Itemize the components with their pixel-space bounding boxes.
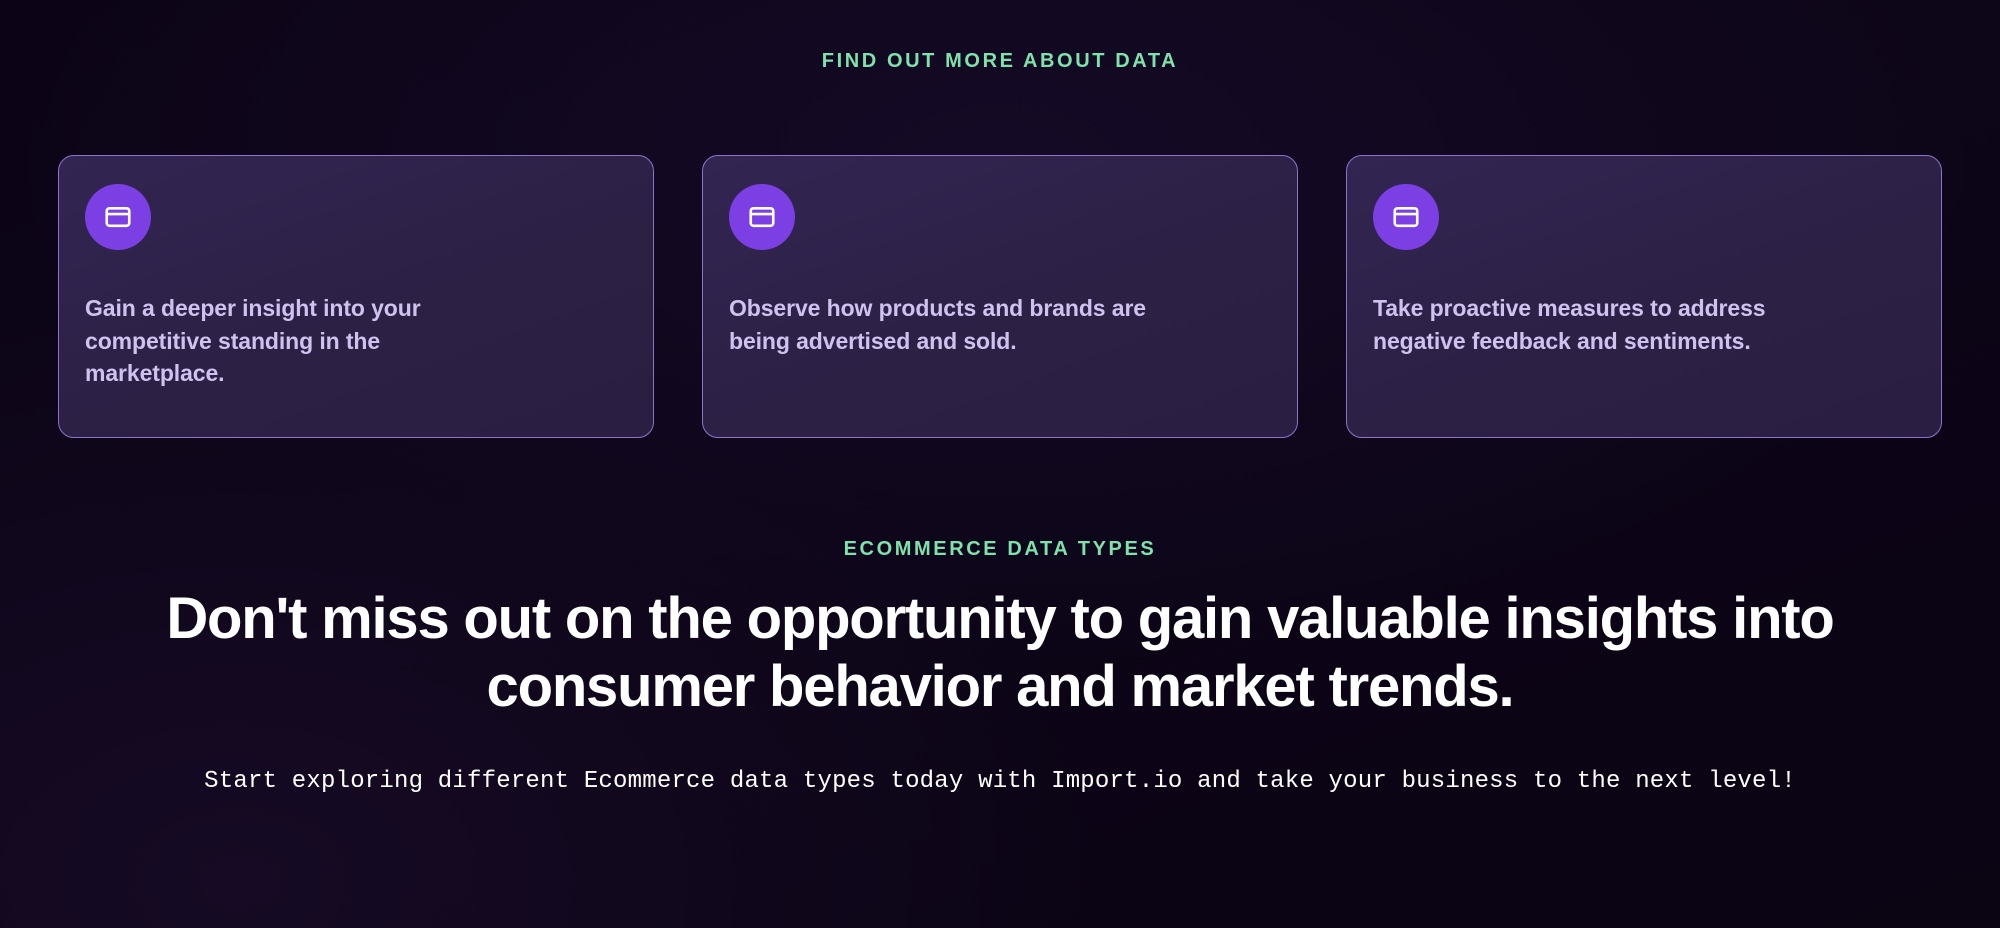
page-title: Don't miss out on the opportunity to gai…: [90, 585, 1910, 721]
feature-card-text: Take proactive measures to address negat…: [1373, 292, 1803, 357]
section-kicker-find-out-more: FIND OUT MORE ABOUT DATA: [58, 0, 1942, 73]
browser-window-icon: [85, 184, 151, 250]
browser-window-icon: [729, 184, 795, 250]
page-root: FIND OUT MORE ABOUT DATA Gain a deeper i…: [0, 0, 2000, 928]
browser-window-icon: [1373, 184, 1439, 250]
section-kicker-ecommerce-data-types: ECOMMERCE DATA TYPES: [58, 538, 1942, 561]
feature-card-1[interactable]: Gain a deeper insight into your competit…: [58, 155, 654, 438]
feature-card-3[interactable]: Take proactive measures to address negat…: [1346, 155, 1942, 438]
feature-card-2[interactable]: Observe how products and brands are bein…: [702, 155, 1298, 438]
feature-card-list: Gain a deeper insight into your competit…: [58, 155, 1942, 438]
feature-card-text: Observe how products and brands are bein…: [729, 292, 1159, 357]
cta-section: ECOMMERCE DATA TYPES Don't miss out on t…: [58, 538, 1942, 800]
feature-card-text: Gain a deeper insight into your competit…: [85, 292, 515, 390]
cta-subtext: Start exploring different Ecommerce data…: [58, 765, 1942, 800]
